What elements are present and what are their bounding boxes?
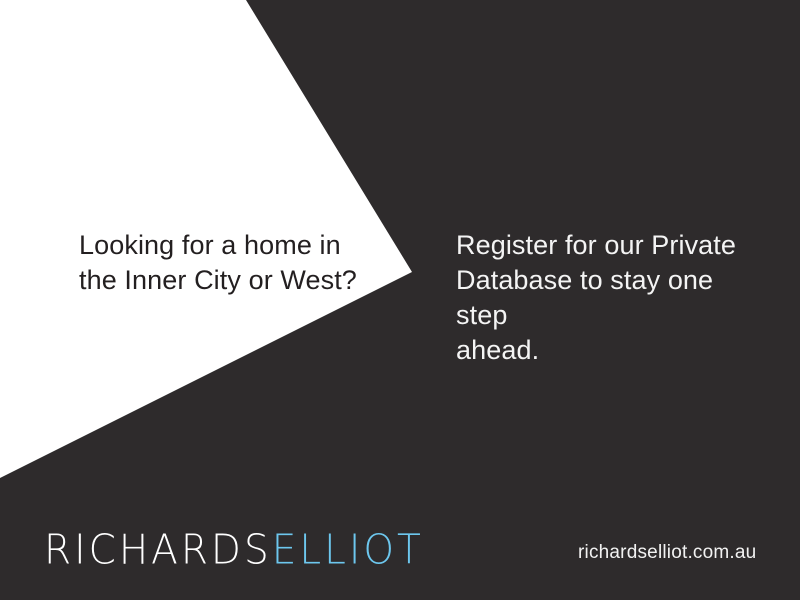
logo-word-elliot: ELLIOT	[272, 527, 424, 574]
left-question-headline: Looking for a home in the Inner City or …	[79, 228, 379, 298]
advertisement-slide: Looking for a home in the Inner City or …	[0, 0, 800, 600]
brand-logo: RICHARDSELLIOT	[44, 528, 424, 574]
right-callout-headline: Register for our Private Database to sta…	[456, 228, 766, 368]
logo-word-richards: RICHARDS	[44, 527, 272, 574]
website-url: richardselliot.com.au	[578, 541, 756, 565]
